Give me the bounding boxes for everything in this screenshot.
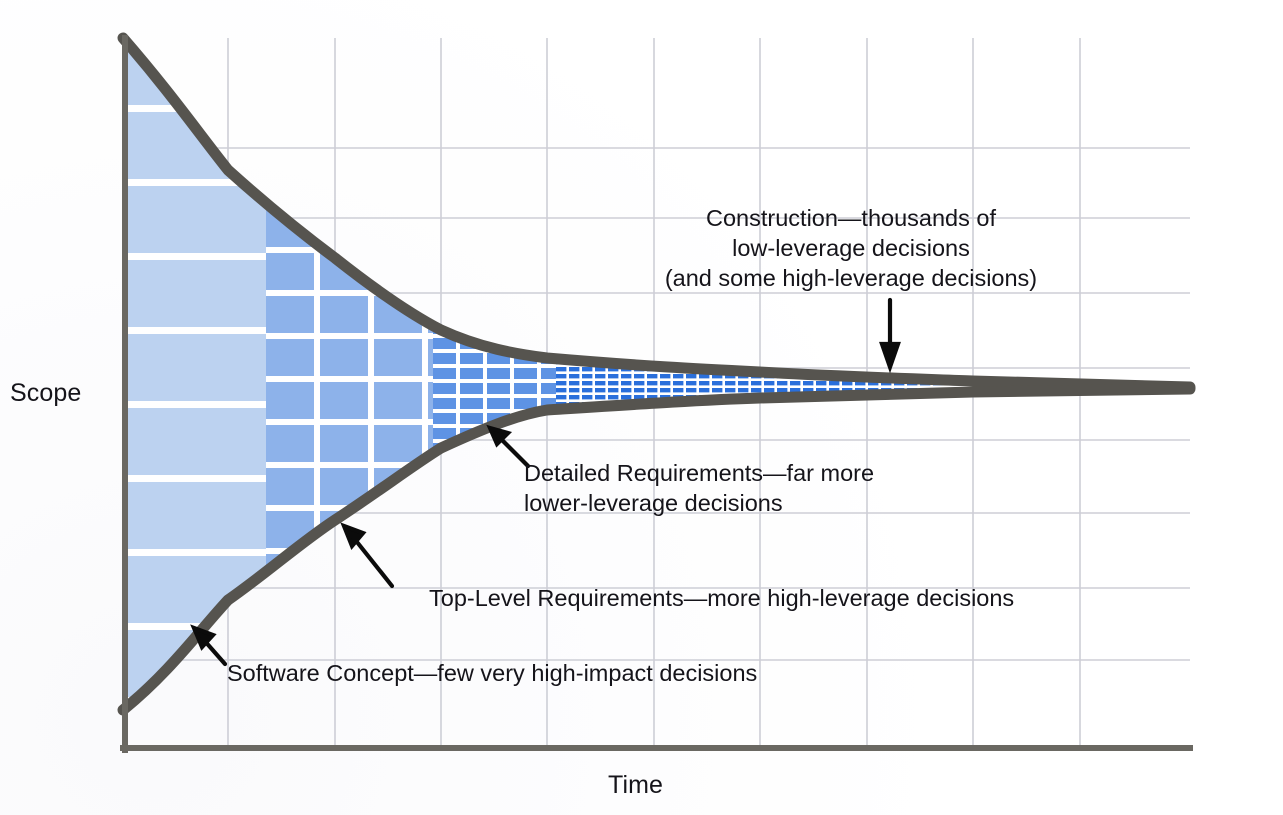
annotation-construction-line3: (and some high-leverage decisions) — [611, 263, 1091, 293]
annotation-software-concept-line1: Software Concept—few very high-impact de… — [227, 658, 757, 688]
scope-funnel-figure: Scope Time Construction—thousands of low… — [0, 0, 1283, 815]
annotation-top-level-requirements-line1: Top-Level Requirements—more high-leverag… — [429, 583, 1014, 613]
chart-svg — [0, 0, 1283, 815]
annotation-construction-line2: low-leverage decisions — [611, 233, 1091, 263]
arrow-construction-icon — [882, 300, 898, 367]
annotation-software-concept: Software Concept—few very high-impact de… — [227, 658, 757, 688]
annotation-detailed-requirements: Detailed Requirements—far more lower-lev… — [524, 458, 874, 518]
y-axis-label: Scope — [10, 379, 81, 408]
arrow-top-level-requirements-icon — [344, 526, 392, 586]
annotation-detailed-requirements-line2: lower-leverage decisions — [524, 488, 874, 518]
arrow-software-concept-icon — [194, 628, 225, 664]
arrow-detailed-requirements-icon — [490, 428, 528, 466]
annotation-detailed-requirements-line1: Detailed Requirements—far more — [524, 458, 874, 488]
annotation-top-level-requirements: Top-Level Requirements—more high-leverag… — [429, 583, 1014, 613]
annotation-construction-line1: Construction—thousands of — [611, 203, 1091, 233]
x-axis-label: Time — [608, 771, 663, 800]
annotation-construction: Construction—thousands of low-leverage d… — [611, 203, 1091, 293]
